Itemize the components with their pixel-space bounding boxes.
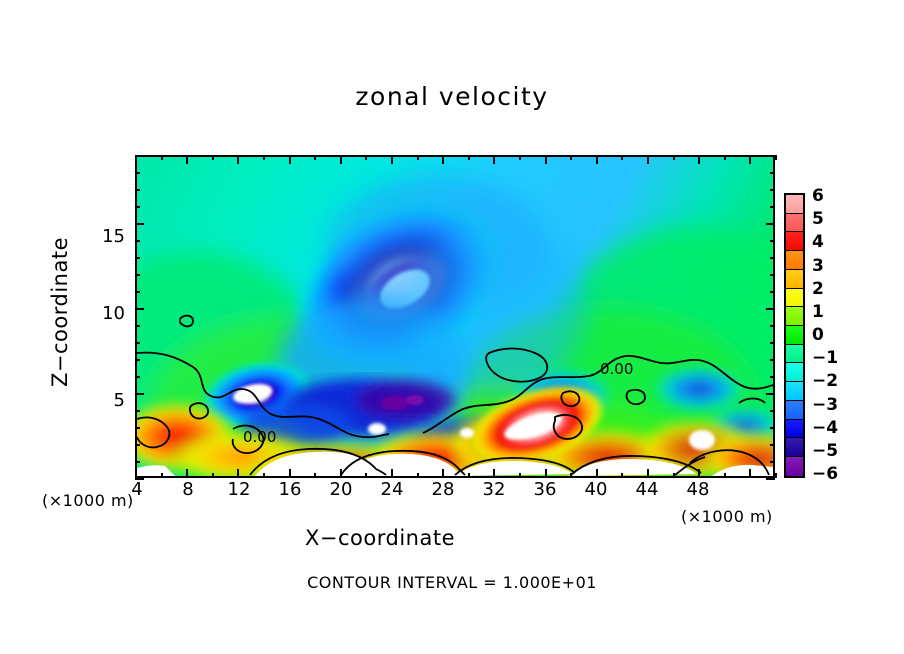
colorbar-tick-label: −4 — [812, 420, 838, 437]
y-tick-right — [770, 325, 775, 327]
xtick-label: 32 — [474, 479, 514, 500]
colorbar — [784, 193, 805, 478]
x-tick-top — [570, 155, 572, 160]
y-tick — [135, 206, 140, 208]
x-tick-top — [775, 155, 777, 160]
x-tick — [186, 469, 188, 478]
x-tick — [545, 469, 547, 478]
x-tick — [289, 469, 291, 478]
colorbar-tick-label: 6 — [812, 188, 824, 205]
contour-plot-area — [135, 155, 775, 478]
x-tick-top — [417, 155, 419, 160]
contour-field — [137, 157, 773, 476]
x-tick — [237, 469, 239, 478]
y-tick-right — [770, 206, 775, 208]
x-tick-top — [493, 155, 495, 164]
x-tick-top — [519, 155, 521, 160]
x-tick — [519, 473, 521, 478]
y-tick-right — [770, 376, 775, 378]
x-tick-top — [545, 155, 547, 164]
x-tick — [596, 469, 598, 478]
x-tick-top — [263, 155, 265, 160]
y-tick — [135, 478, 144, 480]
x-tick-top — [621, 155, 623, 160]
y-tick — [135, 461, 140, 463]
y-tick-right — [766, 308, 775, 310]
x-tick-top — [468, 155, 470, 160]
colorbar-tick-label: −3 — [812, 397, 838, 414]
colorbar-band — [786, 289, 803, 308]
xtick-label: 40 — [576, 479, 616, 500]
x-tick — [698, 469, 700, 478]
x-tick-top — [212, 155, 214, 160]
y-tick — [135, 291, 140, 293]
x-tick — [724, 473, 726, 478]
xtick-label: 12 — [219, 479, 259, 500]
colorbar-tick-label: 5 — [812, 211, 824, 228]
x-tick — [365, 473, 367, 478]
contour-interval-note: CONTOUR INTERVAL = 1.000E+01 — [0, 573, 904, 592]
x-tick — [749, 469, 751, 478]
x-tick — [468, 473, 470, 478]
y-tick-right — [770, 444, 775, 446]
colorbar-band — [786, 270, 803, 289]
xtick-label: 48 — [678, 479, 718, 500]
x-tick-top — [724, 155, 726, 160]
colorbar-band — [786, 345, 803, 364]
x-tick-top — [314, 155, 316, 160]
ytick-label: 5 — [93, 390, 125, 411]
colorbar-tick-label: 1 — [812, 304, 824, 321]
ytick-label: 15 — [93, 226, 125, 247]
y-tick — [135, 325, 140, 327]
xtick-label: 20 — [321, 479, 361, 500]
contour-value-label: 0.00 — [243, 428, 276, 446]
colorbar-band — [786, 382, 803, 401]
y-tick — [135, 172, 140, 174]
y-tick-right — [766, 478, 775, 480]
x-tick-top — [186, 155, 188, 164]
x-tick-top — [442, 155, 444, 164]
xtick-label: 8 — [168, 479, 208, 500]
y-tick — [135, 274, 140, 276]
colorbar-tick-label: −1 — [812, 350, 838, 367]
y-tick-right — [770, 461, 775, 463]
y-tick — [135, 359, 140, 361]
y-tick-right — [770, 274, 775, 276]
x-tick-top — [161, 155, 163, 160]
y-tick-right — [770, 427, 775, 429]
y-tick — [135, 342, 140, 344]
y-tick-right — [770, 172, 775, 174]
xtick-label: 28 — [423, 479, 463, 500]
x-tick — [647, 469, 649, 478]
x-tick-top — [596, 155, 598, 164]
y-tick — [135, 257, 140, 259]
colorbar-tick-label: −5 — [812, 443, 838, 460]
colorbar-band — [786, 307, 803, 326]
y-tick — [135, 240, 140, 242]
y-tick — [135, 223, 144, 225]
x-tick — [340, 469, 342, 478]
x-tick — [391, 469, 393, 478]
x-tick — [621, 473, 623, 478]
x-axis-unit-label: (×1000 m) — [681, 507, 773, 526]
colorbar-tick-label: 0 — [812, 327, 824, 344]
colorbar-band — [786, 195, 803, 214]
y-tick — [135, 393, 144, 395]
x-tick — [673, 473, 675, 478]
x-tick — [314, 473, 316, 478]
axis-bottom-rule — [135, 476, 775, 478]
y-tick-right — [770, 155, 775, 157]
ytick-label: 10 — [93, 303, 125, 324]
y-tick-right — [770, 342, 775, 344]
colorbar-tick-label: −6 — [812, 466, 838, 483]
colorbar-tick-label: 4 — [812, 234, 824, 251]
y-tick-right — [766, 223, 775, 225]
xtick-label: 16 — [270, 479, 310, 500]
xtick-label: 44 — [627, 479, 667, 500]
colorbar-band — [786, 251, 803, 270]
colorbar-band — [786, 401, 803, 420]
x-tick — [161, 473, 163, 478]
y-tick — [135, 308, 144, 310]
y-tick — [135, 155, 140, 157]
x-axis-title: X−coordinate — [0, 526, 760, 550]
colorbar-tick-label: −2 — [812, 373, 838, 390]
x-tick — [263, 473, 265, 478]
y-tick-right — [770, 240, 775, 242]
x-tick — [442, 469, 444, 478]
colorbar-band — [786, 232, 803, 251]
y-tick-right — [770, 291, 775, 293]
colorbar-band — [786, 363, 803, 382]
x-tick — [135, 469, 137, 478]
x-tick-top — [749, 155, 751, 164]
y-tick — [135, 189, 140, 191]
contour-value-label: 0.00 — [600, 360, 633, 378]
x-tick-top — [647, 155, 649, 164]
colorbar-band — [786, 457, 803, 476]
colorbar-band — [786, 214, 803, 233]
y-axis-unit-label: (×1000 m) — [42, 491, 134, 510]
x-tick-top — [698, 155, 700, 164]
y-tick — [135, 376, 140, 378]
x-tick — [570, 473, 572, 478]
colorbar-tick-label: 2 — [812, 281, 824, 298]
x-tick — [417, 473, 419, 478]
y-tick — [135, 427, 140, 429]
y-tick-right — [770, 410, 775, 412]
colorbar-tick-label: 3 — [812, 258, 824, 275]
x-tick-top — [237, 155, 239, 164]
colorbar-band — [786, 420, 803, 439]
x-tick-top — [340, 155, 342, 164]
y-tick-right — [770, 257, 775, 259]
colorbar-band — [786, 326, 803, 345]
x-tick-top — [365, 155, 367, 160]
page-title: zonal velocity — [0, 82, 904, 111]
xtick-label: 24 — [372, 479, 412, 500]
y-tick — [135, 410, 140, 412]
y-tick-right — [766, 393, 775, 395]
x-tick — [493, 469, 495, 478]
x-tick-top — [673, 155, 675, 160]
y-tick-right — [770, 189, 775, 191]
y-tick-right — [770, 359, 775, 361]
x-tick-top — [391, 155, 393, 164]
y-tick — [135, 444, 140, 446]
x-tick-top — [289, 155, 291, 164]
x-tick — [212, 473, 214, 478]
xtick-label: 36 — [525, 479, 565, 500]
y-axis-title: Z−coordinate — [48, 212, 72, 412]
x-tick — [775, 473, 777, 478]
colorbar-band — [786, 438, 803, 457]
